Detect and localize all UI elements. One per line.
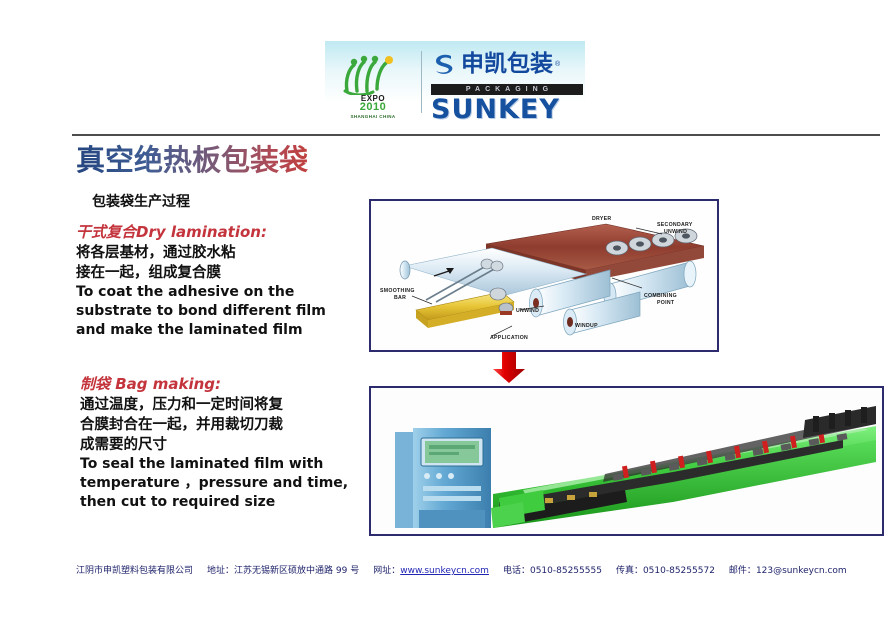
title-rule	[72, 134, 880, 136]
dry-lamination-en-3: and make the laminated film	[76, 321, 356, 340]
footer-web-label: 网址：	[373, 566, 400, 576]
bag-making-heading: 制袋 Bag making:	[80, 375, 360, 394]
swirl-s-icon	[431, 51, 457, 77]
footer-mail-label: 邮件：	[729, 566, 756, 576]
diagram-label-unwind: UNWIND	[516, 308, 539, 314]
footer-address: 江苏无锡新区硕放中通路 99 号	[234, 566, 359, 576]
bag-making-en-2: temperature ，pressure and time,	[80, 474, 360, 493]
diagram-label-secondary: SECONDARY	[657, 222, 693, 228]
diagram-label-point: POINT	[657, 300, 674, 306]
expo-logo: EXPO 2010 SHANGHAI CHINA	[331, 47, 415, 121]
footer-tel: 0510-85255555	[530, 566, 602, 576]
footer-website-link[interactable]: www.sunkeycn.com	[400, 566, 489, 576]
dry-lamination-diagram-panel: DRYER SECONDARY UNWIND SMOOTHING BAR UNW…	[369, 199, 719, 352]
footer-address-label: 地址：	[207, 566, 234, 576]
sunkey-logo: 申凯包装 ® PACKAGING SUNKEY	[431, 45, 583, 123]
registered-mark-icon: ®	[555, 61, 560, 68]
diagram-label-smoothing: SMOOTHING	[380, 288, 415, 294]
bag-making-en-1: To seal the laminated film with	[80, 455, 360, 474]
dry-lamination-en-1: To coat the adhesive on the	[76, 283, 356, 302]
diagram-label-secondary-unwind: UNWIND	[664, 229, 687, 235]
footer-fax: 0510-85255572	[643, 566, 715, 576]
diagram-label-application: APPLICATION	[490, 335, 528, 341]
page-title: 真空绝热板包装袋	[76, 143, 308, 177]
dry-lamination-cn-2: 接在一起，组成复合膜	[76, 263, 356, 283]
diagram-label-dryer: DRYER	[592, 216, 611, 222]
diagram-label-windup: WINDUP	[575, 323, 598, 329]
bag-making-machine-photo	[373, 390, 880, 532]
footer-tel-label: 电话：	[503, 566, 530, 576]
brand-name-en: SUNKEY	[431, 96, 583, 123]
dry-lamination-diagram: DRYER SECONDARY UNWIND SMOOTHING BAR UNW…	[374, 204, 714, 347]
company-logo-banner: EXPO 2010 SHANGHAI CHINA 申凯包装 ® PACKAGIN…	[325, 41, 585, 126]
bag-making-cn-1: 通过温度，压力和一定时间将复	[80, 395, 360, 415]
footer-mail: 123@sunkeycn.com	[756, 566, 847, 576]
brand-name-cn: 申凯包装	[461, 51, 553, 77]
dry-lamination-cn-1: 将各层基材，通过胶水粘	[76, 243, 356, 263]
dry-lamination-heading: 干式复合Dry lamination:	[76, 223, 356, 242]
bag-making-en-3: then cut to required size	[80, 493, 360, 512]
bag-making-machine-panel	[369, 386, 884, 536]
expo-emblem-icon	[337, 49, 409, 95]
bag-making-cn-3: 成需要的尺寸	[80, 435, 360, 455]
diagram-label-combining: COMBINING	[644, 293, 677, 299]
bag-making-block: 制袋 Bag making: 通过温度，压力和一定时间将复 合膜封合在一起，并用…	[80, 375, 360, 512]
footer-company: 江阴市申凯塑料包装有限公司	[76, 566, 193, 576]
slide-page: EXPO 2010 SHANGHAI CHINA 申凯包装 ® PACKAGIN…	[0, 0, 895, 631]
expo-city: SHANGHAI CHINA	[350, 114, 395, 119]
footer-contact-bar: 江阴市申凯塑料包装有限公司地址：江苏无锡新区硕放中通路 99 号网址：www.s…	[76, 565, 876, 577]
expo-year: 2010	[360, 102, 386, 113]
diagram-label-bar: BAR	[394, 295, 406, 301]
bag-making-cn-2: 合膜封合在一起，并用裁切刀裁	[80, 415, 360, 435]
dry-lamination-en-2: substrate to bond different film	[76, 302, 356, 321]
logo-divider	[421, 51, 422, 113]
footer-fax-label: 传真：	[616, 566, 643, 576]
dry-lamination-block: 干式复合Dry lamination: 将各层基材，通过胶水粘 接在一起，组成复…	[76, 223, 356, 340]
down-arrow-icon	[492, 352, 526, 384]
section-subheading: 包装袋生产过程	[92, 193, 190, 211]
packaging-word: PACKAGING	[461, 86, 553, 93]
